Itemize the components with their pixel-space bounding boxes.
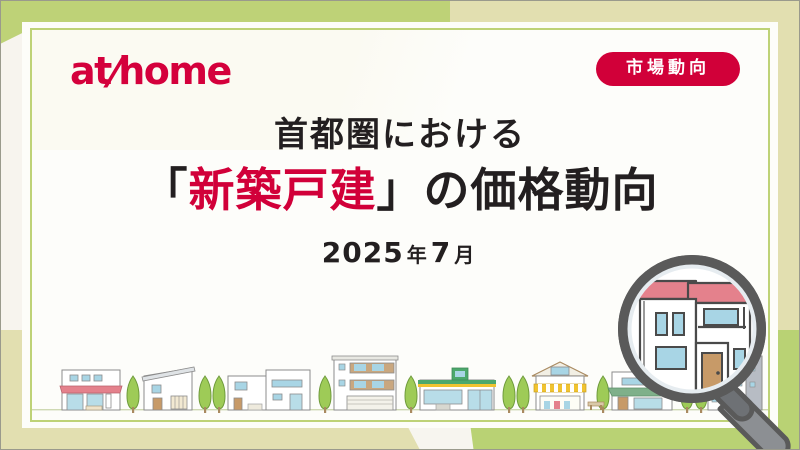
page-title-line1: 首都圏における xyxy=(32,114,768,157)
slide-canvas: at/home 市場動向 首都圏における 「新築戸建」の価格動向 2025年7月 xyxy=(0,0,800,450)
date-month-unit: 月 xyxy=(454,243,475,267)
status-badge: 市場動向 xyxy=(596,52,740,86)
title-highlight: 新築戸建 xyxy=(189,163,377,217)
building-shop-red-awning xyxy=(60,370,122,410)
date-year-unit: 年 xyxy=(407,243,428,267)
title-close-and-rest: 」の価格動向 xyxy=(377,163,659,217)
building-convenience-store xyxy=(418,368,496,410)
logo-text-home: home xyxy=(118,49,231,93)
date-month: 7 xyxy=(431,236,451,269)
building-slanted-house xyxy=(142,367,195,410)
date-year: 2025 xyxy=(322,236,404,269)
title-block: 首都圏における 「新築戸建」の価格動向 2025年7月 xyxy=(32,114,768,269)
title-open-bracket: 「 xyxy=(142,163,189,217)
top-green-band xyxy=(0,0,470,22)
building-white-block xyxy=(228,370,310,410)
building-gabled-shop xyxy=(532,362,588,410)
magnifier-house-illustration xyxy=(618,251,800,450)
building-apartment-balcony xyxy=(332,356,398,410)
athome-logo: at/home xyxy=(70,52,231,90)
page-title-line2: 「新築戸建」の価格動向 xyxy=(32,161,768,221)
